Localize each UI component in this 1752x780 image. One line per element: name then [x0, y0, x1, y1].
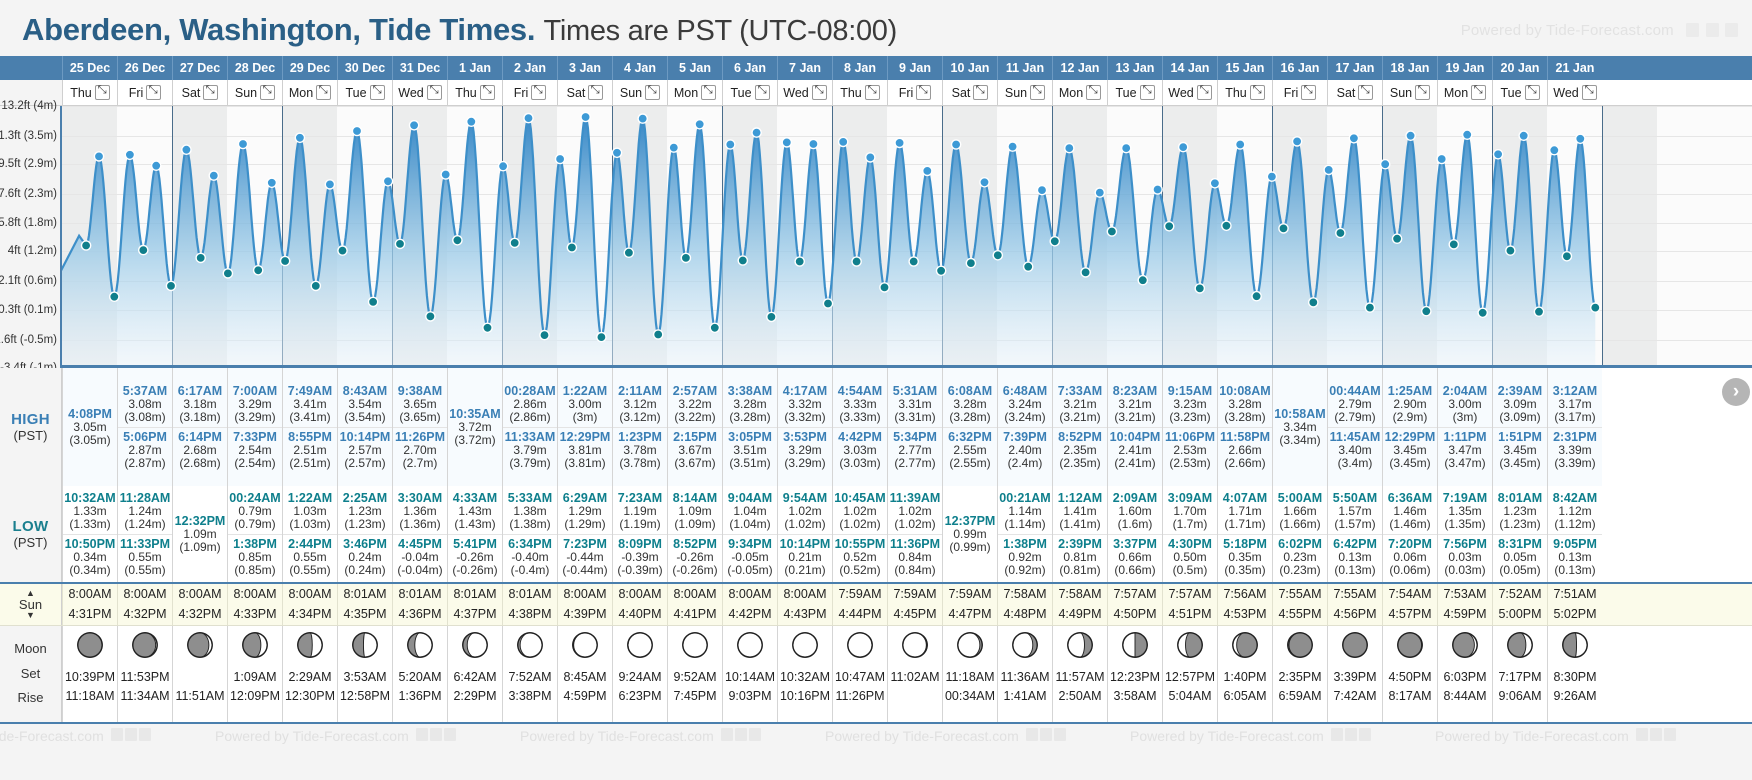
high-tide-point[interactable]	[1494, 150, 1503, 159]
high-tide-point[interactable]	[638, 114, 647, 123]
low-tide-height: 0.05m	[1493, 551, 1547, 564]
low-tide-cell-15: 11:39AM1.02m(1.02m)11:36PM0.84m(0.84m)	[887, 486, 942, 582]
high-tide-point[interactable]	[1349, 134, 1358, 143]
low-tide-height: 1.09m	[668, 505, 722, 518]
date-header-17[interactable]: 11 Jan	[997, 56, 1052, 80]
low-tide-point[interactable]	[1478, 308, 1487, 317]
expand-icon[interactable]	[1140, 85, 1155, 100]
low-tide-height: 1.41m	[1053, 505, 1107, 518]
moon-phase-icon	[515, 630, 545, 660]
low-tide-point[interactable]	[966, 259, 975, 268]
high-tide-event: 3:53PM3.29m(3.29m)	[778, 427, 832, 473]
low-tide-point[interactable]	[540, 331, 549, 340]
date-header-label: 29 Dec	[290, 61, 330, 75]
low-tide-time: 6:42PM	[1328, 537, 1382, 551]
low-tide-point[interactable]	[1107, 227, 1116, 236]
high-tide-point[interactable]	[325, 180, 334, 189]
low-tide-point[interactable]	[1165, 222, 1174, 231]
expand-icon[interactable]	[916, 85, 931, 100]
low-tide-event: 3:46PM0.24m(0.24m)	[338, 534, 392, 580]
moon-cell-8: 7:52AM3:38PM	[502, 626, 557, 722]
weekday-label: Sat	[567, 86, 586, 100]
low-tide-height-alt: (-0.04m)	[393, 564, 447, 577]
low-tide-point[interactable]	[196, 253, 205, 262]
weekday-cell-17: Sun	[997, 80, 1052, 105]
low-tide-event: 5:18PM0.35m(0.35m)	[1218, 534, 1272, 580]
date-header-26[interactable]: 20 Jan	[1492, 56, 1547, 80]
high-tide-point[interactable]	[866, 153, 875, 162]
high-tide-event: 9:38AM3.65m(3.65m)	[393, 382, 447, 427]
low-tide-point[interactable]	[510, 238, 519, 247]
low-tide-point[interactable]	[1138, 276, 1147, 285]
high-tide-point[interactable]	[581, 112, 590, 121]
low-tide-point[interactable]	[82, 241, 91, 250]
low-tide-point[interactable]	[823, 299, 832, 308]
date-header-24[interactable]: 18 Jan	[1382, 56, 1437, 80]
date-header-9[interactable]: 3 Jan	[557, 56, 612, 80]
low-tide-time: 10:32AM	[63, 491, 117, 505]
high-tide-point[interactable]	[467, 117, 476, 126]
low-tide-event: 2:44PM0.55m(0.55m)	[283, 534, 337, 580]
weekday-cell-15: Fri	[887, 80, 942, 105]
date-header-22[interactable]: 16 Jan	[1272, 56, 1327, 80]
high-tide-point[interactable]	[1065, 144, 1074, 153]
high-tide-height-alt: (2.66m)	[1218, 457, 1272, 470]
high-tide-point[interactable]	[726, 140, 735, 149]
date-header-23[interactable]: 17 Jan	[1327, 56, 1382, 80]
high-tide-time: 2:04AM	[1438, 384, 1492, 398]
expand-icon[interactable]	[1301, 85, 1316, 100]
expand-icon[interactable]	[1415, 85, 1430, 100]
moonrise-time: 12:09PM	[230, 687, 280, 706]
low-tide-point[interactable]	[1393, 234, 1402, 243]
high-tide-time: 6:17AM	[173, 384, 227, 398]
expand-icon[interactable]	[588, 85, 603, 100]
date-header-21[interactable]: 15 Jan	[1217, 56, 1272, 80]
low-tide-time: 7:19AM	[1438, 491, 1492, 505]
moon-phase-icon	[570, 630, 600, 660]
weekday-cell-9: Sat	[557, 80, 612, 105]
sunset-time: 4:37PM	[453, 605, 496, 624]
high-tide-height: 3.40m	[1328, 444, 1382, 457]
high-tide-event: 8:55PM2.51m(2.51m)	[283, 427, 337, 473]
low-tide-point[interactable]	[1591, 303, 1600, 312]
high-tide-point[interactable]	[923, 166, 932, 175]
high-tide-height-alt: (3.47m)	[1438, 457, 1492, 470]
tide-icon	[139, 728, 151, 741]
weekday-cells: ThuFriSatSunMonTueWedThuFriSatSunMonTueW…	[62, 80, 1752, 105]
expand-icon[interactable]	[316, 85, 331, 100]
expand-icon[interactable]	[531, 85, 546, 100]
high-tide-height-alt: (3.78m)	[613, 457, 667, 470]
footer-watermark-icons	[719, 728, 761, 744]
high-tide-point[interactable]	[441, 170, 450, 179]
low-tide-point[interactable]	[852, 257, 861, 266]
high-tide-point[interactable]	[1037, 186, 1046, 195]
expand-icon[interactable]	[480, 85, 495, 100]
low-tide-height-alt: (-0.26m)	[448, 564, 502, 577]
low-tide-height-alt: (0.84m)	[888, 564, 942, 577]
date-header-2[interactable]: 27 Dec	[172, 56, 227, 80]
low-tide-point[interactable]	[453, 236, 462, 245]
expand-icon[interactable]	[370, 85, 385, 100]
date-header-label: 19 Jan	[1446, 61, 1485, 75]
high-tide-height-alt: (3.79m)	[503, 457, 557, 470]
date-header-7[interactable]: 1 Jan	[447, 56, 502, 80]
expand-icon[interactable]	[812, 85, 827, 100]
high-tide-point[interactable]	[1576, 134, 1585, 143]
high-tide-time: 7:00AM	[228, 384, 282, 398]
high-tide-point[interactable]	[1293, 137, 1302, 146]
high-tide-point[interactable]	[669, 143, 678, 152]
low-tide-height: 1.02m	[778, 505, 832, 518]
sunrise-time: 7:52AM	[1498, 585, 1541, 604]
high-tide-height: 3.05m	[63, 421, 117, 434]
date-header-19[interactable]: 13 Jan	[1107, 56, 1162, 80]
high-tide-event: 8:52PM2.35m(2.35m)	[1053, 427, 1107, 473]
expand-icon[interactable]	[1197, 85, 1212, 100]
high-tide-time: 2:57AM	[668, 384, 722, 398]
expand-icon[interactable]	[1358, 85, 1373, 100]
high-tide-point[interactable]	[1519, 131, 1528, 140]
moon-cell-26: 7:17PM9:06AM	[1492, 626, 1547, 722]
high-tide-event: 5:31AM3.31m(3.31m)	[888, 382, 942, 427]
date-header-label: 5 Jan	[679, 61, 711, 75]
low-tide-point[interactable]	[166, 281, 175, 290]
moon-phase-icon	[460, 630, 490, 660]
y-axis-tick-4: 5.8ft (1.8m)	[0, 217, 57, 229]
low-tide-point[interactable]	[483, 323, 492, 332]
date-header-label: 1 Jan	[459, 61, 491, 75]
high-tide-point[interactable]	[238, 139, 247, 148]
high-tide-point[interactable]	[1122, 144, 1131, 153]
low-tide-event: 7:23AM1.19m(1.19m)	[613, 489, 667, 534]
low-tide-event: 1:38PM0.85m(0.85m)	[228, 534, 282, 580]
date-header-4[interactable]: 29 Dec	[282, 56, 337, 80]
sunset-arrow-icon: ▼	[26, 611, 35, 620]
date-header-15[interactable]: 9 Jan	[887, 56, 942, 80]
high-tide-tz: (PST)	[14, 428, 48, 443]
low-tide-height: 0.03m	[1438, 551, 1492, 564]
high-tide-point[interactable]	[383, 177, 392, 186]
low-tide-point[interactable]	[795, 257, 804, 266]
low-tide-point[interactable]	[1422, 307, 1431, 316]
date-header-1[interactable]: 26 Dec	[117, 56, 172, 80]
date-header-11[interactable]: 5 Jan	[667, 56, 722, 80]
low-tide-time: 6:29AM	[558, 491, 612, 505]
moonrise-time: 7:42AM	[1333, 687, 1376, 706]
expand-icon[interactable]	[973, 85, 988, 100]
low-tide-event: 10:14PM0.21m(0.21m)	[778, 534, 832, 580]
high-tide-cell-17: 6:48AM3.24m(3.24m)7:39PM2.40m(2.4m)	[997, 368, 1052, 486]
expand-icon[interactable]	[645, 85, 660, 100]
date-header-20[interactable]: 14 Jan	[1162, 56, 1217, 80]
low-tide-point[interactable]	[223, 269, 232, 278]
expand-icon[interactable]	[260, 85, 275, 100]
date-header-25[interactable]: 19 Jan	[1437, 56, 1492, 80]
high-tide-event: 9:15AM3.23m(3.23m)	[1163, 382, 1217, 427]
wind-icon	[1026, 728, 1038, 741]
low-tide-time: 12:32PM	[173, 514, 227, 528]
title-timezone: Times are PST (UTC-08:00)	[544, 15, 897, 47]
high-tide-height: 3.34m	[1273, 421, 1327, 434]
date-header-6[interactable]: 31 Dec	[392, 56, 447, 80]
high-tide-point[interactable]	[895, 138, 904, 147]
high-tide-point[interactable]	[1381, 160, 1390, 169]
low-tide-point[interactable]	[624, 248, 633, 257]
low-tide-point[interactable]	[1024, 262, 1033, 271]
low-tide-point[interactable]	[681, 253, 690, 262]
low-tide-point[interactable]	[426, 312, 435, 321]
high-tide-event: 6:32PM2.55m(2.55m)	[943, 427, 997, 473]
low-tide-point[interactable]	[1252, 292, 1261, 301]
high-tide-height: 3.47m	[1438, 444, 1492, 457]
low-tide-point[interactable]	[395, 239, 404, 248]
weekday-label: Wed	[398, 86, 423, 100]
moonrise-time: 6:59AM	[1278, 687, 1321, 706]
high-tide-time: 4:08PM	[63, 407, 117, 421]
high-tide-height: 2.70m	[393, 444, 447, 457]
low-tide-height: 0.34m	[63, 551, 117, 564]
high-tide-cell-23: 00:44AM2.79m(2.79m)11:45AM3.40m(3.4m)	[1327, 368, 1382, 486]
moon-phase-icon	[845, 630, 875, 660]
sunset-time: 4:55PM	[1278, 605, 1321, 624]
expand-icon[interactable]	[1471, 85, 1486, 100]
high-tide-point[interactable]	[556, 154, 565, 163]
expand-icon[interactable]	[95, 85, 110, 100]
high-tide-point[interactable]	[182, 145, 191, 154]
scroll-right-icon[interactable]: ›	[1722, 378, 1750, 406]
date-header-16[interactable]: 10 Jan	[942, 56, 997, 80]
date-header-8[interactable]: 2 Jan	[502, 56, 557, 80]
high-tide-point[interactable]	[1463, 130, 1472, 139]
high-tide-point[interactable]	[1406, 131, 1415, 140]
high-tide-height: 3.22m	[668, 398, 722, 411]
date-header-12[interactable]: 6 Jan	[722, 56, 777, 80]
low-tide-height: 0.50m	[1163, 551, 1217, 564]
high-tide-height-alt: (3.45m)	[1383, 457, 1437, 470]
high-tide-point[interactable]	[809, 139, 818, 148]
low-tide-event: 4:45PM-0.04m(-0.04m)	[393, 534, 447, 580]
expand-icon[interactable]	[427, 85, 442, 100]
high-tide-cell-27: 3:12AM3.17m(3.17m)2:31PM3.39m(3.39m)	[1547, 368, 1602, 486]
high-tide-point[interactable]	[94, 152, 103, 161]
date-header-13[interactable]: 7 Jan	[777, 56, 832, 80]
weekday-label: Sat	[1337, 86, 1356, 100]
low-tide-cell-7: 4:33AM1.43m(1.43m)5:41PM-0.26m(-0.26m)	[447, 486, 502, 582]
high-tide-point[interactable]	[352, 126, 361, 135]
sunrise-time: 8:00AM	[618, 585, 661, 604]
date-header-5[interactable]: 30 Dec	[337, 56, 392, 80]
low-tide-point[interactable]	[993, 251, 1002, 260]
moonset-time: 6:03PM	[1443, 668, 1486, 687]
weekday-cell-26: Tue	[1492, 80, 1547, 105]
moonset-time: 7:52AM	[508, 668, 551, 687]
low-tide-time: 6:02PM	[1273, 537, 1327, 551]
low-tide-point[interactable]	[1081, 268, 1090, 277]
high-tide-point[interactable]	[295, 133, 304, 142]
high-tide-point[interactable]	[1236, 140, 1245, 149]
high-tide-height: 2.41m	[1108, 444, 1162, 457]
expand-icon[interactable]	[1582, 85, 1597, 100]
high-tide-time: 3:53PM	[778, 430, 832, 444]
low-tide-point[interactable]	[1506, 246, 1515, 255]
low-tide-height: 1.70m	[1163, 505, 1217, 518]
date-header-label: 3 Jan	[569, 61, 601, 75]
weekday-label: Sun	[1005, 86, 1027, 100]
moonrise-time: 6:05AM	[1223, 687, 1266, 706]
low-tide-point[interactable]	[110, 292, 119, 301]
expand-icon[interactable]	[1086, 85, 1101, 100]
low-tide-point[interactable]	[281, 256, 290, 265]
high-tide-height: 3.03m	[833, 444, 887, 457]
low-tide-cell-0: 10:32AM1.33m(1.33m)10:50PM0.34m(0.34m)	[62, 486, 117, 582]
low-tide-point[interactable]	[567, 243, 576, 252]
high-tide-point[interactable]	[410, 121, 419, 130]
high-tide-point[interactable]	[782, 138, 791, 147]
sun-cell-6: 8:01AM4:36PM	[392, 584, 447, 625]
high-tide-point[interactable]	[839, 137, 848, 146]
moonset-label-text: Set	[21, 662, 41, 687]
low-tide-point[interactable]	[1562, 252, 1571, 261]
low-tide-point[interactable]	[767, 312, 776, 321]
date-header-18[interactable]: 12 Jan	[1052, 56, 1107, 80]
low-tide-point[interactable]	[654, 330, 663, 339]
low-tide-time: 5:18PM	[1218, 537, 1272, 551]
low-tide-time: 2:09AM	[1108, 491, 1162, 505]
low-tide-height-alt: (1.04m)	[723, 518, 777, 531]
low-tide-point[interactable]	[1449, 240, 1458, 249]
low-tide-height: 1.14m	[998, 505, 1052, 518]
expand-icon[interactable]	[146, 85, 161, 100]
low-tide-point[interactable]	[738, 256, 747, 265]
high-tide-point[interactable]	[980, 178, 989, 187]
high-tide-point[interactable]	[1095, 188, 1104, 197]
high-tide-cell-6: 9:38AM3.65m(3.65m)11:26PM2.70m(2.7m)	[392, 368, 447, 486]
expand-icon[interactable]	[1250, 85, 1265, 100]
low-tide-point[interactable]	[909, 257, 918, 266]
low-tide-point[interactable]	[338, 246, 347, 255]
high-tide-event: 7:33PM2.54m(2.54m)	[228, 427, 282, 473]
low-tide-event: 6:02PM0.23m(0.23m)	[1273, 534, 1327, 580]
sun-cell-0: 8:00AM4:31PM	[62, 584, 117, 625]
weekday-label: Sat	[952, 86, 971, 100]
date-header-3[interactable]: 28 Dec	[227, 56, 282, 80]
date-header-0[interactable]: 25 Dec	[62, 56, 117, 80]
moon-label: Moon Set Rise	[0, 626, 62, 722]
sun-cell-18: 7:58AM4:49PM	[1052, 584, 1107, 625]
moonrise-time: 7:45PM	[673, 687, 716, 706]
low-tide-event: 8:01AM1.23m(1.23m)	[1493, 489, 1547, 534]
date-header-27[interactable]: 21 Jan	[1547, 56, 1602, 80]
expand-icon[interactable]	[1525, 85, 1540, 100]
weekday-cell-25: Mon	[1437, 80, 1492, 105]
date-header-10[interactable]: 4 Jan	[612, 56, 667, 80]
high-tide-point[interactable]	[952, 140, 961, 149]
low-tide-point[interactable]	[1195, 284, 1204, 293]
low-tide-point[interactable]	[369, 297, 378, 306]
low-tide-point[interactable]	[1534, 307, 1543, 316]
high-tide-point[interactable]	[1550, 146, 1559, 155]
low-tide-point[interactable]	[1365, 303, 1374, 312]
moon-cell-14: 10:47AM11:26PM	[832, 626, 887, 722]
high-tide-point[interactable]	[209, 171, 218, 180]
low-tide-point[interactable]	[880, 283, 889, 292]
high-tide-point[interactable]	[1437, 154, 1446, 163]
high-tide-height-alt: (3.31m)	[888, 411, 942, 424]
high-tide-point[interactable]	[125, 150, 134, 159]
high-tide-point[interactable]	[152, 161, 161, 170]
low-tide-point[interactable]	[710, 323, 719, 332]
expand-icon[interactable]	[701, 85, 716, 100]
low-tide-point[interactable]	[254, 266, 263, 275]
high-tide-point[interactable]	[1210, 179, 1219, 188]
low-tide-point[interactable]	[1309, 298, 1318, 307]
moon-phase-icon	[75, 630, 105, 660]
expand-icon[interactable]	[755, 85, 770, 100]
expand-icon[interactable]	[1030, 85, 1045, 100]
high-tide-point[interactable]	[612, 148, 621, 157]
high-tide-time: 1:25AM	[1383, 384, 1437, 398]
low-tide-height: 1.03m	[283, 505, 337, 518]
low-tide-point[interactable]	[1336, 228, 1345, 237]
moon-phase-icon	[1285, 630, 1315, 660]
high-tide-point[interactable]	[695, 120, 704, 129]
low-tide-height-alt: (0.05m)	[1493, 564, 1547, 577]
low-tide-point[interactable]	[1050, 237, 1059, 246]
moon-cell-4: 2:29AM12:30PM	[282, 626, 337, 722]
low-tide-point[interactable]	[937, 266, 946, 275]
date-header-14[interactable]: 8 Jan	[832, 56, 887, 80]
low-tide-height: 1.38m	[503, 505, 557, 518]
high-tide-point[interactable]	[1267, 172, 1276, 181]
moonset-time: 11:18AM	[945, 668, 994, 687]
expand-icon[interactable]	[865, 85, 880, 100]
high-tide-point[interactable]	[1153, 185, 1162, 194]
high-tide-height-alt: (2.57m)	[338, 457, 392, 470]
low-tide-event: 6:42PM0.13m(0.13m)	[1328, 534, 1382, 580]
low-tide-height-alt: (0.79m)	[228, 518, 282, 531]
low-tide-height: 1.02m	[833, 505, 887, 518]
low-tide-point[interactable]	[1222, 221, 1231, 230]
high-tide-height-alt: (2.35m)	[1053, 457, 1107, 470]
low-tide-event: 6:36AM1.46m(1.46m)	[1383, 489, 1437, 534]
high-tide-point[interactable]	[499, 162, 508, 171]
sun-cell-20: 7:57AM4:51PM	[1162, 584, 1217, 625]
low-tide-point[interactable]	[311, 281, 320, 290]
high-tide-point[interactable]	[1008, 142, 1017, 151]
low-tide-point[interactable]	[597, 333, 606, 342]
high-tide-point[interactable]	[524, 114, 533, 123]
high-tide-height-alt: (2.53m)	[1163, 457, 1217, 470]
high-tide-point[interactable]	[1324, 165, 1333, 174]
tide-icon	[1725, 23, 1738, 37]
sun-cell-9: 8:00AM4:39PM	[557, 584, 612, 625]
high-tide-point[interactable]	[752, 128, 761, 137]
high-tide-cell-26: 2:39AM3.09m(3.09m)1:51PM3.45m(3.45m)	[1492, 368, 1547, 486]
low-tide-point[interactable]	[139, 246, 148, 255]
high-tide-point[interactable]	[267, 178, 276, 187]
date-header-label: 6 Jan	[734, 61, 766, 75]
low-tide-height: 0.13m	[1328, 551, 1382, 564]
low-tide-point[interactable]	[1279, 224, 1288, 233]
expand-icon[interactable]	[203, 85, 218, 100]
low-tide-cell-1: 11:28AM1.24m(1.24m)11:33PM0.55m(0.55m)	[117, 486, 172, 582]
high-tide-event: 2:04AM3.00m(3m)	[1438, 382, 1492, 427]
high-tide-event: 10:14PM2.57m(2.57m)	[338, 427, 392, 473]
high-tide-point[interactable]	[1179, 143, 1188, 152]
weekday-label: Mon	[289, 86, 313, 100]
